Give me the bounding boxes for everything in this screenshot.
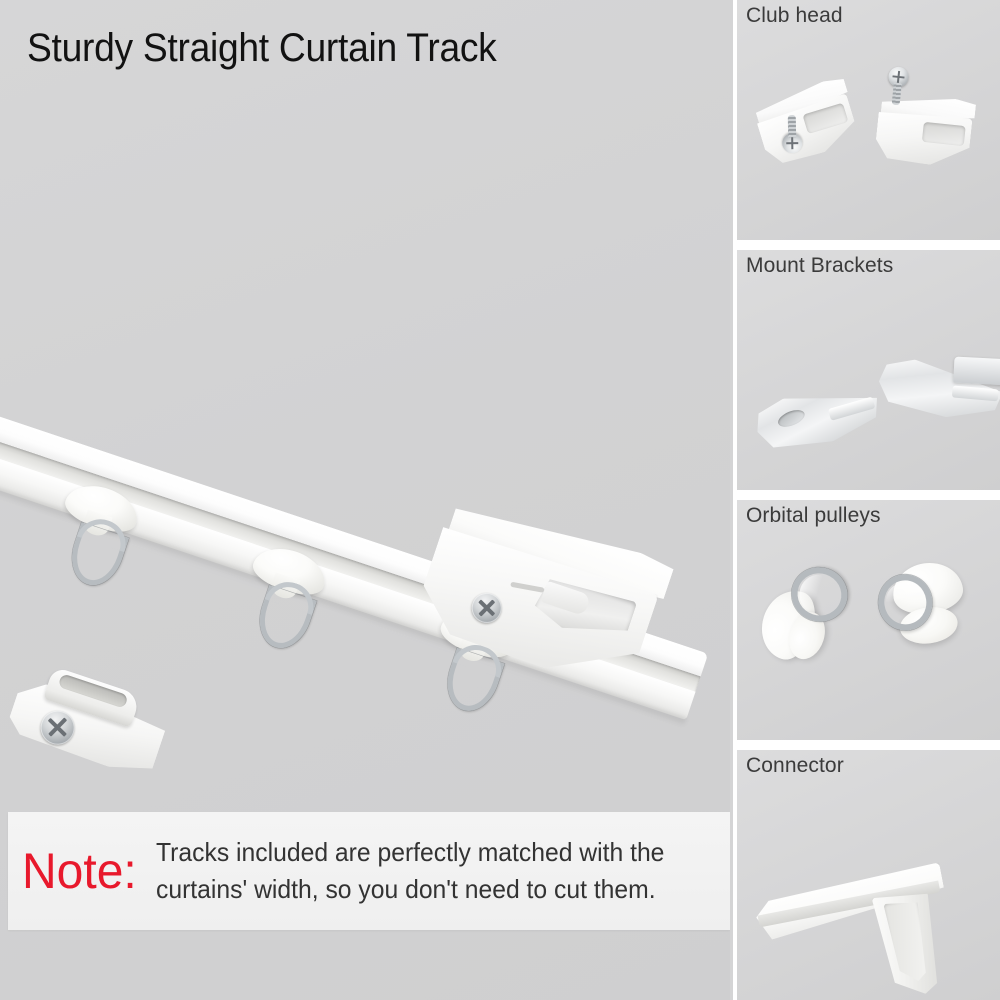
part-label-connector: Connector (746, 754, 844, 778)
part-card-connector: Connector (737, 750, 1000, 1000)
note-text-line-1: Tracks included are perfectly matched wi… (156, 834, 664, 871)
screw-icon (782, 133, 802, 153)
note-label: Note: (22, 846, 150, 896)
note-banner: Note: Tracks included are perfectly matc… (8, 812, 730, 930)
club-head-slot (922, 122, 966, 146)
club-head-piece (751, 75, 863, 170)
orbital-pulley-piece (889, 557, 984, 654)
part-image-orbital-pulleys (737, 500, 1000, 740)
track-mount-bracket (1, 652, 176, 791)
part-card-club-head: Club head (737, 0, 1000, 240)
part-image-connector (737, 750, 1000, 1000)
screw-shaft (788, 115, 796, 137)
mount-bracket-piece (749, 366, 885, 462)
mount-bracket-piece (874, 341, 1000, 432)
part-card-orbital-pulleys: Orbital pulleys (737, 500, 1000, 740)
part-image-club-head (737, 0, 1000, 240)
part-card-mount-brackets: Mount Brackets (737, 250, 1000, 490)
connector-piece (755, 842, 985, 972)
part-label-mount-brackets: Mount Brackets (746, 254, 893, 278)
bracket-plate (752, 380, 884, 457)
club-head-piece (874, 91, 977, 171)
product-infographic: Sturdy Straight Curtain Track (0, 0, 1000, 1000)
curtain-track-illustration (0, 250, 730, 770)
orbital-pulley-piece (753, 570, 861, 676)
part-label-orbital-pulleys: Orbital pulleys (746, 504, 881, 528)
glider-ring-icon (251, 585, 317, 655)
note-text: Tracks included are perfectly matched wi… (156, 834, 664, 908)
part-label-club-head: Club head (746, 4, 843, 28)
parts-column: Club head (733, 0, 1000, 1000)
screw-icon (888, 66, 910, 88)
page-title: Sturdy Straight Curtain Track (27, 26, 497, 71)
part-image-mount-brackets (737, 250, 1000, 490)
bracket-tab (953, 357, 1000, 386)
note-text-line-2: curtains' width, so you don't need to cu… (156, 871, 664, 908)
hero-panel: Sturdy Straight Curtain Track (0, 0, 730, 1000)
glider-ring-icon (64, 522, 130, 592)
